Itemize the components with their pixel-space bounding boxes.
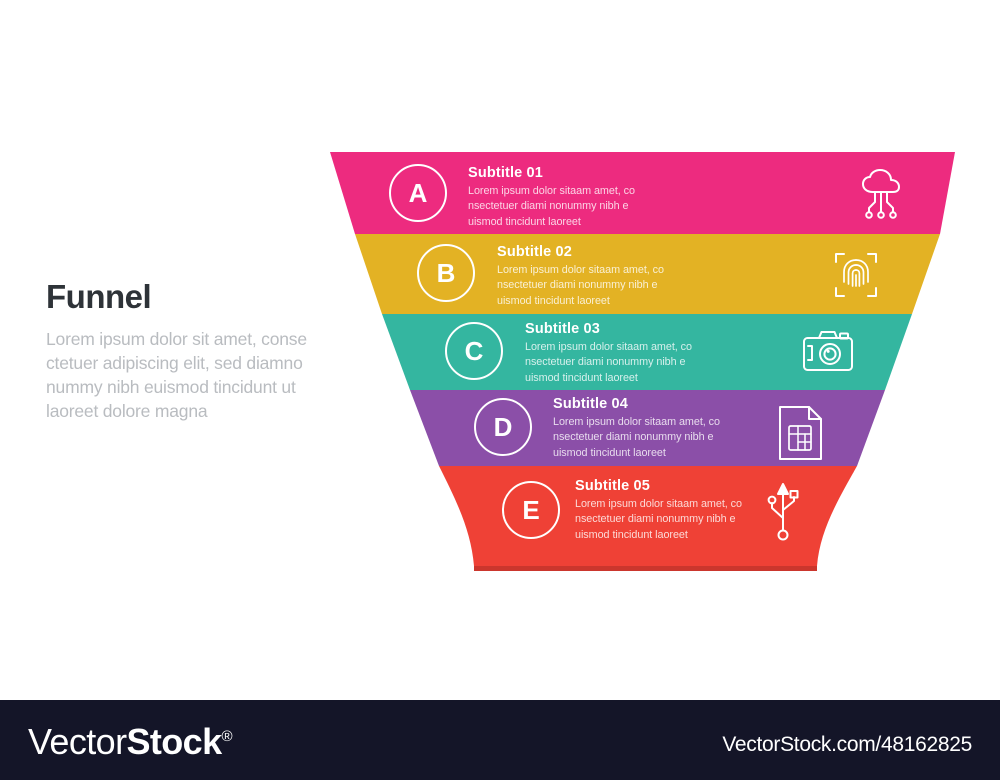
- funnel-diagram: A B C D E Subtitle 01 Lorem ipsum dolor …: [0, 0, 1000, 700]
- segment-letter-b: B: [417, 244, 475, 302]
- watermark-footer: VectorStock® VectorStock.com/48162825: [0, 700, 1000, 780]
- brand-name-bold: Stock: [126, 721, 221, 762]
- watermark-url: VectorStock.com/48162825: [722, 733, 972, 757]
- registered-trademark-icon: ®: [222, 728, 232, 745]
- infographic-canvas: Funnel Lorem ipsum dolor sit amet, conse…: [0, 0, 1000, 780]
- segment-letter-e: E: [502, 481, 560, 539]
- vectorstock-logo: VectorStock®: [28, 721, 232, 763]
- segment-letter-c: C: [445, 322, 503, 380]
- segment-letter-d: D: [474, 398, 532, 456]
- brand-name-thin: Vector: [28, 721, 126, 762]
- segment-letter-a: A: [389, 164, 447, 222]
